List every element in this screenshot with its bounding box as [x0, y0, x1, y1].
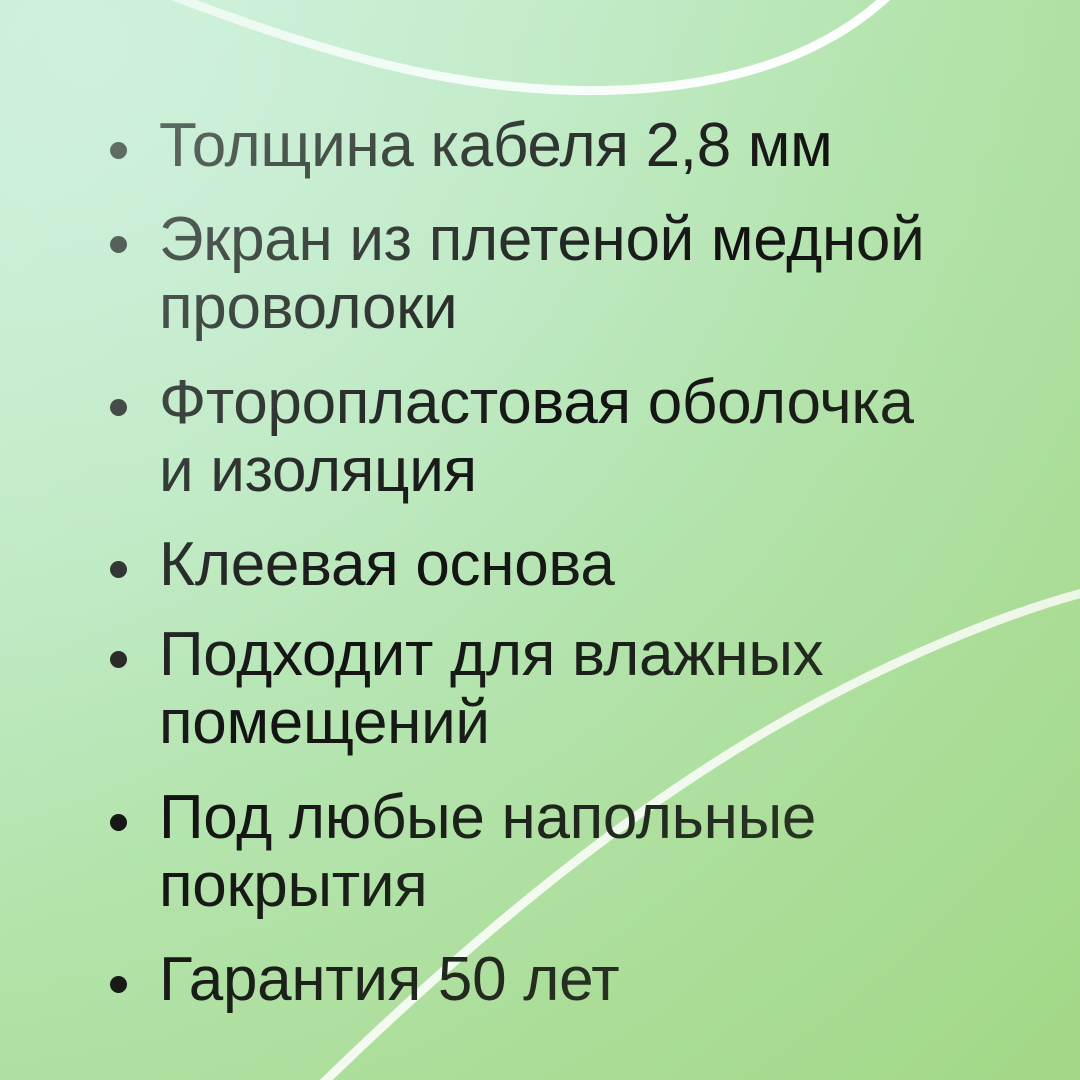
bullet-marker-icon [110, 976, 127, 993]
bullet-marker-icon [110, 399, 127, 416]
list-item: Экран из плетеной медной проволоки [110, 206, 1020, 342]
list-item: Толщина кабеля 2,8 мм [110, 112, 1020, 180]
list-item-label: Подходит для влажных помещений [159, 621, 823, 757]
list-item-label: Экран из плетеной медной проволоки [159, 206, 924, 342]
bullet-marker-icon [110, 236, 127, 253]
list-item-label: Клеевая основа [159, 531, 615, 599]
list-item: Подходит для влажных помещений [110, 621, 1020, 757]
promo-slide: Толщина кабеля 2,8 мм Экран из плетеной … [0, 0, 1080, 1080]
bullet-marker-icon [110, 814, 127, 831]
list-item: Под любые напольные покрытия [110, 784, 1020, 920]
bullet-marker-icon [110, 142, 127, 159]
list-item: Клеевая основа [110, 531, 1020, 599]
list-item-label: Под любые напольные покрытия [159, 784, 816, 920]
bullet-marker-icon [110, 561, 127, 578]
list-item-label: Толщина кабеля 2,8 мм [159, 112, 832, 180]
feature-list: Толщина кабеля 2,8 мм Экран из плетеной … [0, 0, 1080, 1080]
list-item: Фторопластовая оболочка и изоляция [110, 369, 1020, 505]
list-item-label: Гарантия 50 лет [159, 946, 619, 1014]
list-item: Гарантия 50 лет [110, 946, 1020, 1014]
bullet-marker-icon [110, 651, 127, 668]
list-item-label: Фторопластовая оболочка и изоляция [159, 369, 914, 505]
